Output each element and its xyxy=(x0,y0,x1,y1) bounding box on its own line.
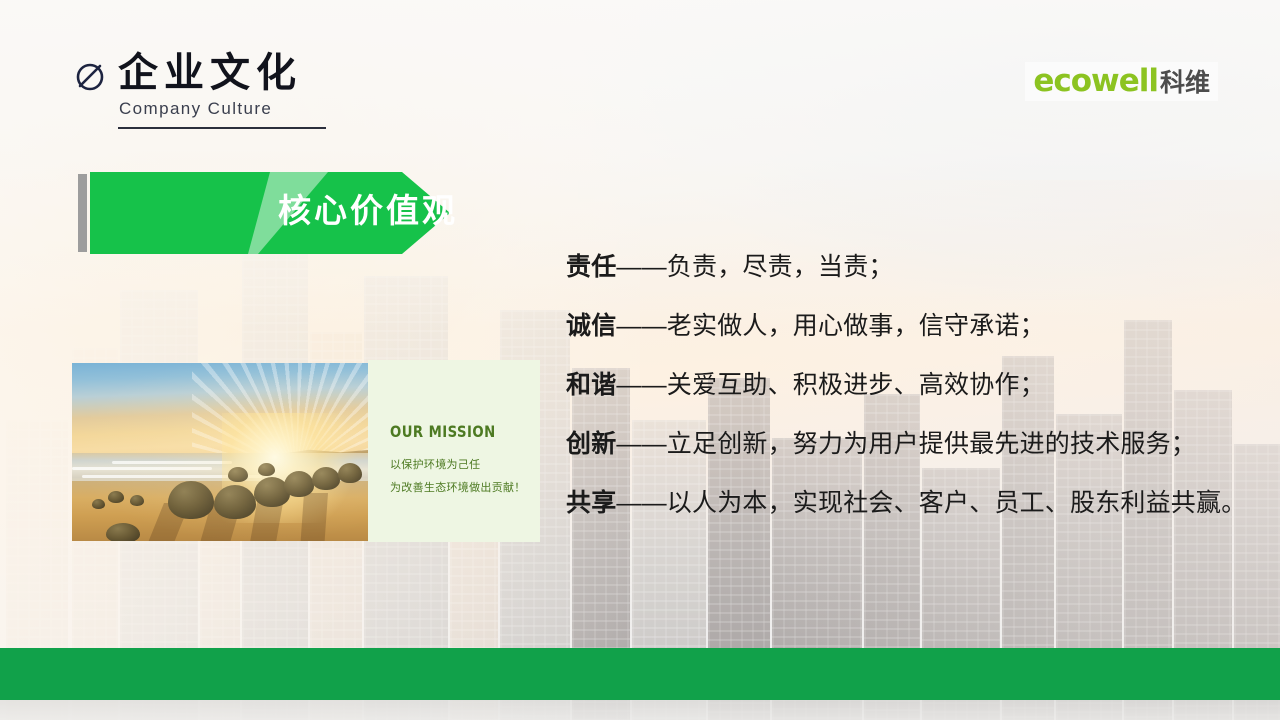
slide-canvas: 企业文化 Company Culture ecowell 科维 核心价值观 xyxy=(0,0,1280,720)
page-title: 企业文化 xyxy=(118,52,302,94)
slashed-circle-icon xyxy=(74,59,108,93)
mission-text-panel: OUR MISSION 以保护环境为己任 为改善生态环境做出贡献！ xyxy=(368,360,540,542)
banner-left-edge-bar xyxy=(78,174,87,252)
mission-block: OUR MISSION 以保护环境为己任 为改善生态环境做出贡献！ xyxy=(72,360,540,542)
logo-wordmark-en: ecowell xyxy=(1033,66,1158,97)
core-values-list: 责任——负责，尽责，当责； 诚信——老实做人，用心做事，信守承诺； 和谐——关爱… xyxy=(566,238,1266,533)
value-item: 共享——以人为本，实现社会、客户、员工、股东利益共赢。 xyxy=(566,474,1266,533)
value-description: ——负责，尽责，当责； xyxy=(616,253,893,281)
value-keyword: 创新 xyxy=(566,430,616,458)
mission-line-1: 以保护环境为己任 xyxy=(390,456,480,472)
value-description: ——关爱互助、积极进步、高效协作； xyxy=(616,371,1044,399)
value-item: 诚信——老实做人，用心做事，信守承诺； xyxy=(566,297,1266,356)
footer-base-strip xyxy=(0,700,1280,720)
photo-glare-overlay xyxy=(72,363,374,541)
mission-title: OUR MISSION xyxy=(390,422,496,441)
mission-photo xyxy=(72,363,374,541)
value-item: 创新——立足创新，努力为用户提供最先进的技术服务； xyxy=(566,415,1266,474)
footer-green-bar xyxy=(0,648,1280,700)
company-logo: ecowell 科维 xyxy=(1025,62,1218,101)
title-underline-rule xyxy=(118,127,326,129)
banner-label: 核心价值观 xyxy=(278,190,458,233)
value-description: ——以人为本，实现社会、客户、员工、股东利益共赢。 xyxy=(616,489,1246,517)
value-item: 责任——负责，尽责，当责； xyxy=(566,238,1266,297)
page-subtitle: Company Culture xyxy=(119,99,272,119)
core-values-banner: 核心价值观 xyxy=(78,172,450,254)
value-keyword: 和谐 xyxy=(566,371,616,399)
value-keyword: 责任 xyxy=(566,253,616,281)
value-item: 和谐——关爱互助、积极进步、高效协作； xyxy=(566,356,1266,415)
slide-header: 企业文化 Company Culture ecowell 科维 xyxy=(0,0,1280,150)
logo-wordmark-cn: 科维 xyxy=(1160,71,1210,96)
value-description: ——立足创新，努力为用户提供最先进的技术服务； xyxy=(616,430,1196,458)
value-description: ——老实做人，用心做事，信守承诺； xyxy=(616,312,1044,340)
value-keyword: 诚信 xyxy=(566,312,616,340)
value-keyword: 共享 xyxy=(566,489,616,517)
mission-line-2: 为改善生态环境做出贡献！ xyxy=(390,479,526,495)
